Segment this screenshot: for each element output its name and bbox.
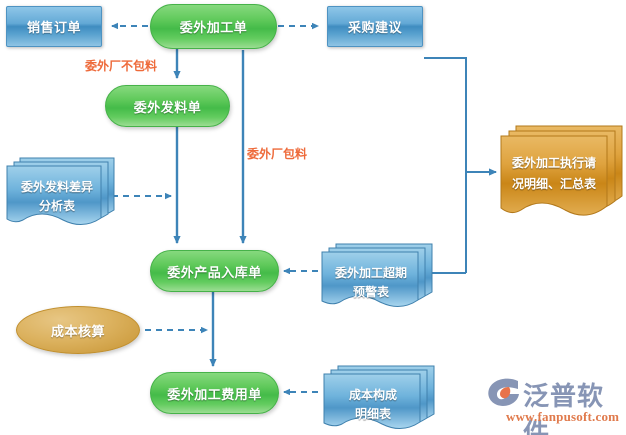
- report-issue-variance-shape: [4, 156, 116, 228]
- annotation-with-material: 委外厂包料: [247, 145, 307, 162]
- brand-logo: 泛普软件 www.fanpusoft.com: [487, 374, 622, 430]
- report-cost-breakdown[interactable]: 成本构成 明细表: [322, 364, 436, 432]
- logo-wordmark: 泛普软件: [523, 376, 622, 435]
- node-product-receipt-label: 委外产品入库单: [167, 262, 262, 281]
- node-sales-order-label: 销售订单: [27, 17, 81, 36]
- node-sales-order[interactable]: 销售订单: [6, 6, 102, 47]
- logo-url: www.fanpusoft.com: [506, 409, 619, 425]
- node-product-receipt[interactable]: 委外产品入库单: [150, 250, 279, 292]
- node-material-issue-label: 委外发料单: [134, 97, 202, 116]
- node-material-issue[interactable]: 委外发料单: [105, 85, 230, 127]
- node-processing-fee-label: 委外加工费用单: [167, 384, 262, 403]
- report-execution-status[interactable]: 委外加工执行请 况明细、汇总表: [498, 124, 624, 220]
- report-cost-breakdown-shape: [322, 364, 436, 432]
- node-outsourcing-order-label: 委外加工单: [180, 17, 248, 36]
- report-overdue-warning-shape: [320, 242, 434, 310]
- report-issue-variance[interactable]: 委外发料差异 分析表: [4, 156, 116, 228]
- flowchart-canvas: 销售订单 委外加工单 采购建议 委外发料单 委外产品入库单 成本核算 委外加工费…: [0, 0, 626, 435]
- report-execution-status-shape: [498, 124, 624, 220]
- node-cost-accounting[interactable]: 成本核算: [16, 306, 140, 354]
- node-processing-fee[interactable]: 委外加工费用单: [150, 372, 279, 414]
- link-purchase-to-execution: [424, 58, 466, 172]
- node-purchase-suggestion[interactable]: 采购建议: [327, 6, 423, 47]
- annotation-no-material: 委外厂不包料: [85, 57, 157, 74]
- node-cost-accounting-label: 成本核算: [51, 321, 105, 340]
- fanpu-logo-icon: [487, 377, 521, 407]
- report-overdue-warning[interactable]: 委外加工超期 预警表: [320, 242, 434, 310]
- node-outsourcing-order[interactable]: 委外加工单: [150, 4, 277, 49]
- node-purchase-suggestion-label: 采购建议: [348, 17, 402, 36]
